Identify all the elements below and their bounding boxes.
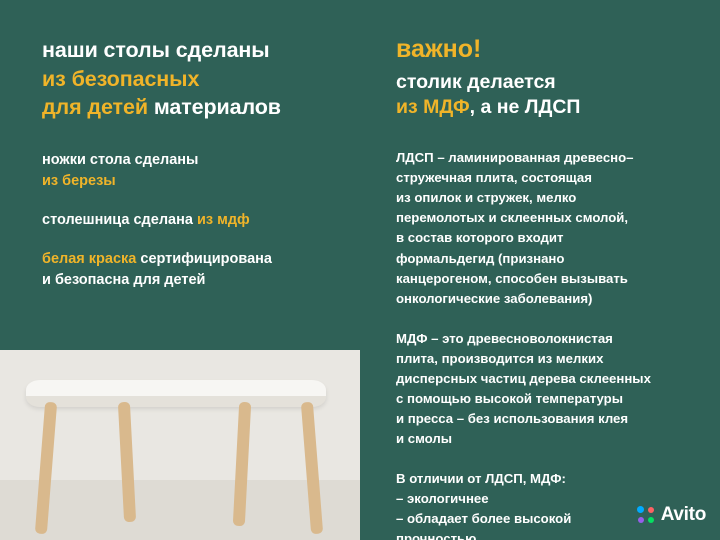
table-top — [26, 380, 326, 406]
subtitle-rest: , а не ЛДСП — [470, 96, 581, 118]
feature-top-line-1: столешница сделана — [42, 212, 197, 228]
left-headline: наши столы сделаны из безопасных для дет… — [42, 36, 342, 122]
paragraph-mdf: МДФ – это древесноволокнистая плита, про… — [396, 329, 696, 449]
left-content: наши столы сделаны из безопасных для дет… — [42, 36, 342, 291]
feature-paint: белая краска сертифицирована и безопасна… — [42, 249, 342, 291]
photo-floor — [0, 480, 360, 540]
left-panel: наши столы сделаны из безопасных для дет… — [0, 0, 360, 540]
feature-paint-accent: белая краска — [42, 251, 136, 267]
feature-legs-line-1: ножки стола сделаны — [42, 152, 198, 168]
feature-top: столешница сделана из мдф — [42, 210, 342, 231]
promo-image: наши столы сделаны из безопасных для дет… — [0, 0, 720, 540]
feature-legs: ножки стола сделаны из березы — [42, 150, 342, 192]
feature-legs-line-2: из березы — [42, 173, 116, 189]
headline-line-3-accent: для детей — [42, 95, 148, 119]
avito-watermark: Avito — [637, 504, 706, 526]
headline-line-3-rest: материалов — [148, 95, 281, 119]
right-content: важно! столик делается из МДФ, а не ЛДСП… — [396, 36, 696, 540]
feature-paint-rest: сертифицирована — [136, 251, 272, 267]
feature-paint-line-2: и безопасна для детей — [42, 272, 205, 288]
important-subtitle: столик делается из МДФ, а не ЛДСП — [396, 70, 696, 121]
table-photo — [0, 350, 360, 540]
subtitle-accent: из МДФ — [396, 96, 470, 118]
avito-watermark-label: Avito — [661, 504, 706, 526]
paragraph-ldsp: ЛДСП – ламинированная древесно– стружечн… — [396, 148, 696, 309]
subtitle-line-1: столик делается — [396, 71, 556, 93]
feature-top-accent: из мдф — [197, 212, 250, 228]
headline-line-1: наши столы сделаны — [42, 38, 270, 62]
right-panel: важно! столик делается из МДФ, а не ЛДСП… — [360, 0, 720, 540]
headline-line-2: из безопасных — [42, 67, 199, 91]
avito-logo-icon — [637, 506, 655, 524]
important-title: важно! — [396, 36, 696, 64]
